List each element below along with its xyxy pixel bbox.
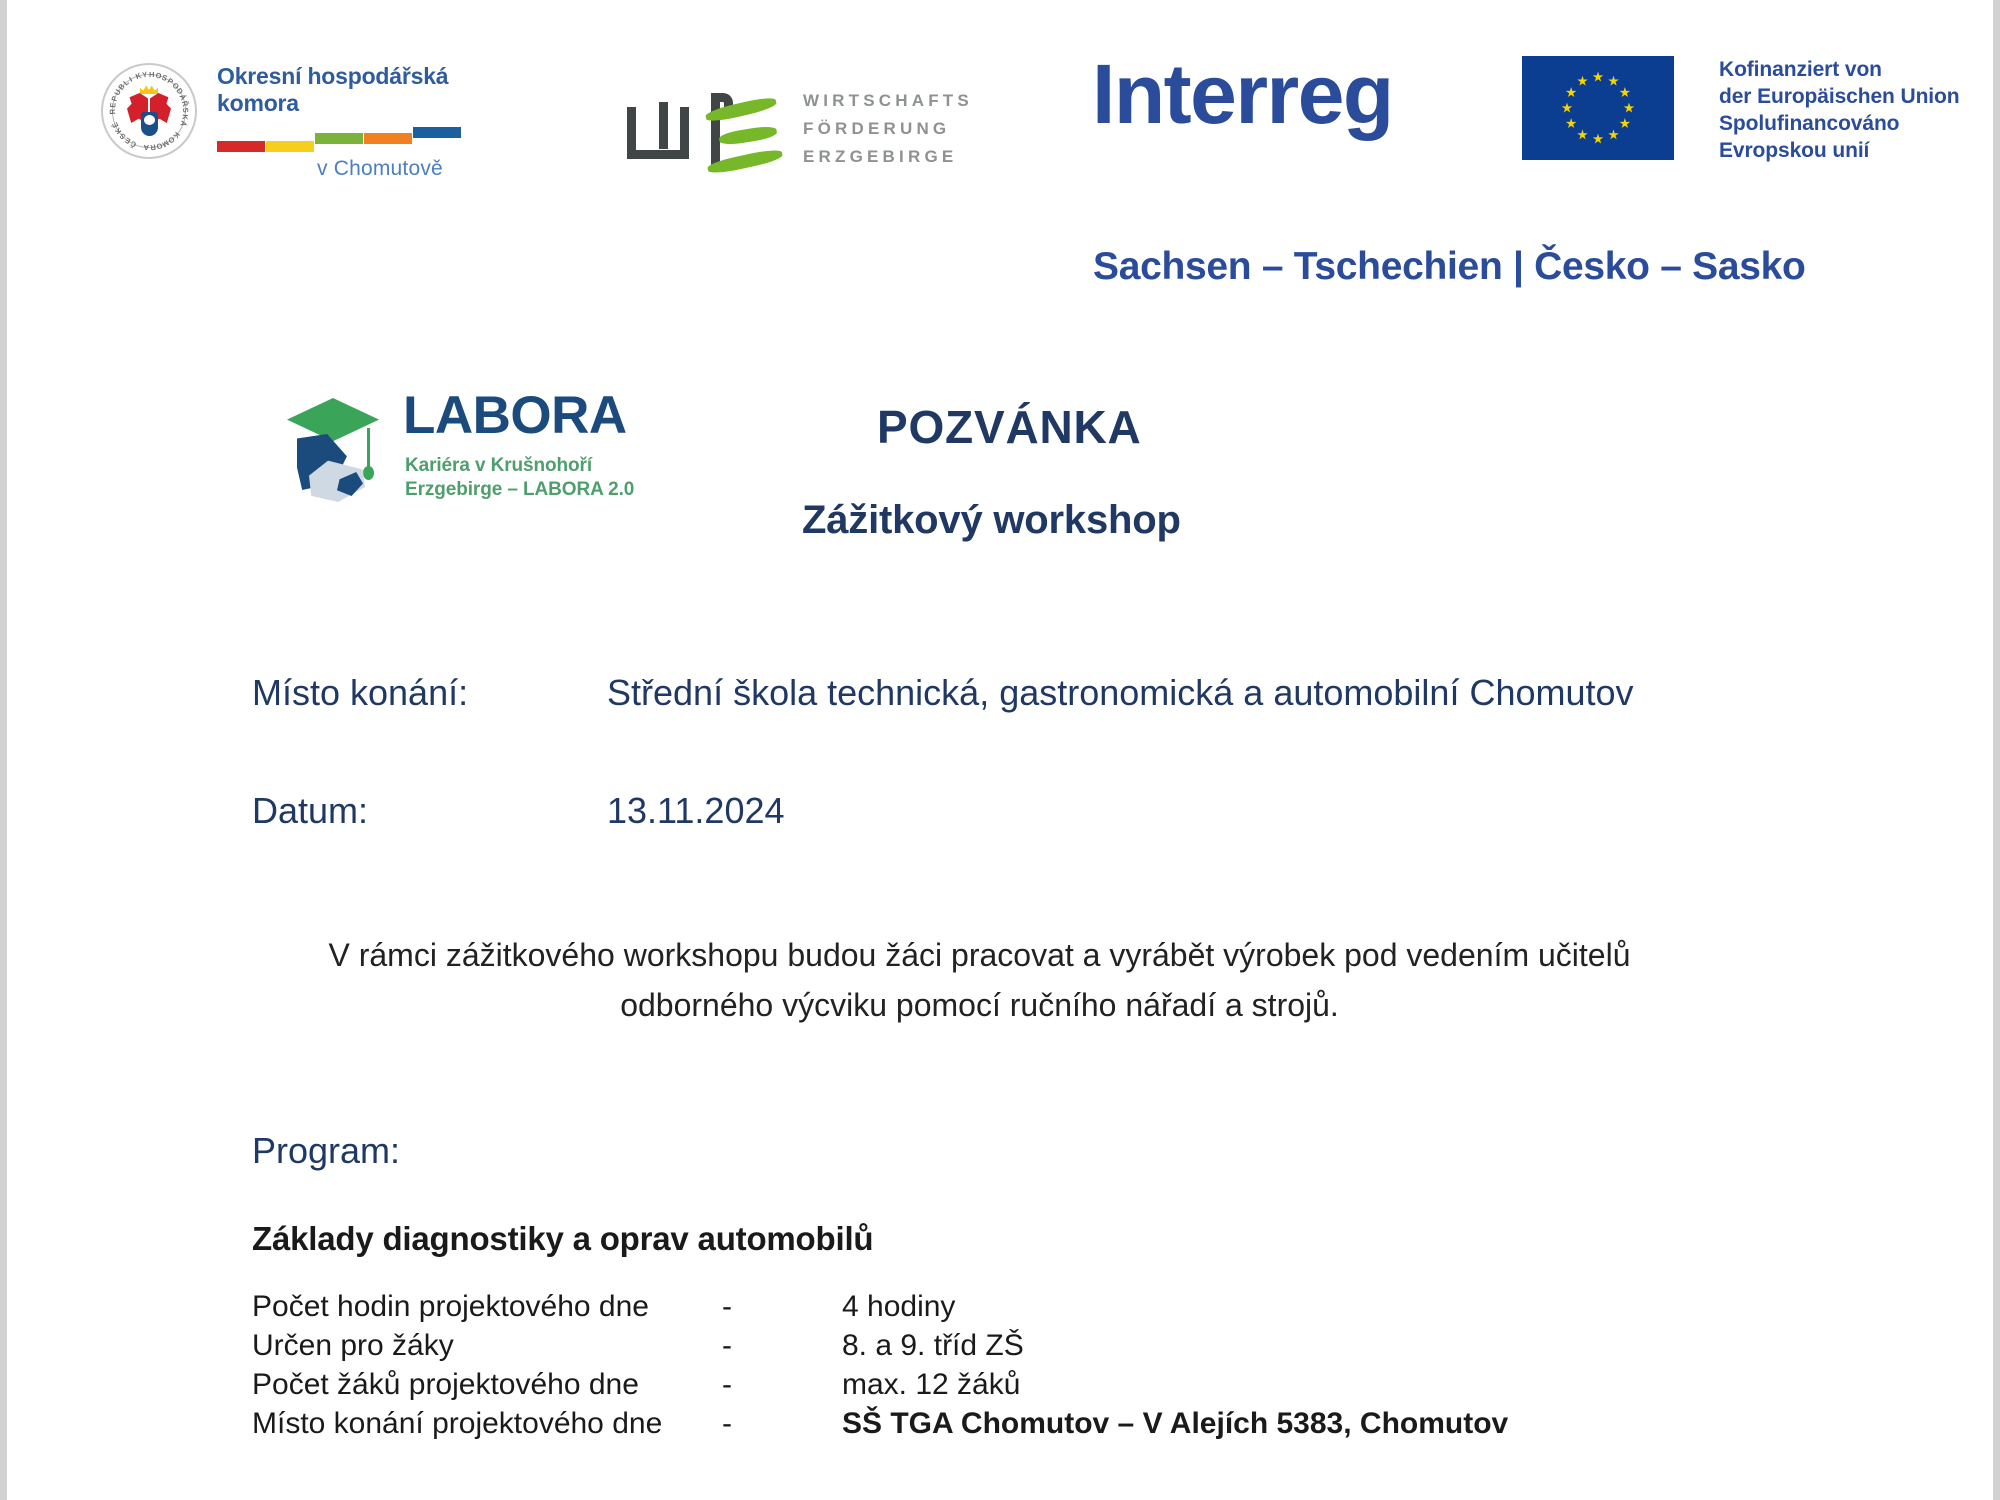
program-detail-dash: - — [722, 1329, 732, 1363]
program-detail-value: max. 12 žáků — [842, 1368, 1020, 1402]
eu-star-icon — [1624, 103, 1635, 114]
program-detail-dash: - — [722, 1290, 732, 1324]
description-paragraph: V rámci zážitkového workshopu budou žáci… — [252, 930, 1707, 1030]
eu-line-3: Spolufinancováno — [1719, 110, 1960, 137]
program-details-table: Počet hodin projektového dne-4 hodinyUrč… — [252, 1290, 1752, 1446]
ohk-color-bars — [217, 127, 487, 155]
funding-logo-strip: HOSPODÁŘSKÁ KOMORA ČESKÉ REPUBLIKY Okres… — [7, 0, 2000, 200]
program-label: Program: — [252, 1130, 400, 1172]
info-label-venue: Místo konání: — [252, 672, 468, 714]
eu-flag-icon — [1522, 56, 1674, 160]
graduation-cap-handshake-icon — [285, 388, 389, 513]
wfe-line-3: ERZGEBIRGE — [803, 143, 973, 171]
event-info-block: Místo konání: Střední škola technická, g… — [252, 672, 1952, 908]
wfe-line-2: FÖRDERUNG — [803, 115, 973, 143]
eu-star-icon — [1608, 76, 1619, 87]
program-detail-key: Počet hodin projektového dne — [252, 1290, 649, 1324]
eu-line-1: Kofinanziert von — [1719, 56, 1960, 83]
eu-star-icon — [1562, 103, 1573, 114]
ohk-line-2: komora — [217, 90, 497, 117]
wfe-wordmark: WIRTSCHAFTS FÖRDERUNG ERZGEBIRGE — [803, 87, 973, 171]
eu-star-icon — [1566, 87, 1577, 98]
eu-star-icon — [1566, 118, 1577, 129]
program-title: Základy diagnostiky a oprav automobilů — [252, 1220, 873, 1258]
eu-star-icon — [1608, 129, 1619, 140]
program-detail-key: Počet žáků projektového dne — [252, 1368, 639, 1402]
labora-subtitle-cz: Kariéra v Krušnohoří — [405, 454, 634, 478]
wf-monogram-icon — [627, 85, 772, 163]
program-detail-dash: - — [722, 1407, 732, 1441]
eu-star-icon — [1619, 87, 1630, 98]
info-value-date: 13.11.2024 — [607, 790, 785, 832]
ohk-city-label: v Chomutově — [317, 157, 443, 181]
eu-star-icon — [1593, 72, 1604, 83]
page-title: POZVÁNKA — [877, 400, 1142, 454]
eu-star-icon — [1619, 118, 1630, 129]
eu-funding-statement: Kofinanziert von der Europäischen Union … — [1719, 56, 1960, 164]
program-detail-value: SŠ TGA Chomutov – V Alejích 5383, Chomut… — [842, 1407, 1508, 1441]
eu-line-4: Evropskou unií — [1719, 137, 1960, 164]
program-detail-row: Místo konání projektového dne-SŠ TGA Cho… — [252, 1407, 1752, 1446]
document-page: HOSPODÁŘSKÁ KOMORA ČESKÉ REPUBLIKY Okres… — [0, 0, 2000, 1500]
program-detail-key: Místo konání projektového dne — [252, 1407, 662, 1441]
ohk-chomutov-logo: HOSPODÁŘSKÁ KOMORA ČESKÉ REPUBLIKY Okres… — [99, 55, 499, 175]
program-detail-row: Určen pro žáky-8. a 9. tříd ZŠ — [252, 1329, 1752, 1368]
page-subtitle: Zážitkový workshop — [802, 498, 1181, 543]
labora-wordmark: LABORA — [403, 388, 627, 444]
eu-star-icon — [1577, 129, 1588, 140]
eu-star-icon — [1593, 134, 1604, 145]
program-detail-value: 8. a 9. tříd ZŠ — [842, 1329, 1024, 1363]
labora-subtitle-de: Erzgebirge – LABORA 2.0 — [405, 478, 634, 502]
eu-star-icon — [1577, 76, 1588, 87]
info-label-date: Datum: — [252, 790, 368, 832]
info-value-venue: Střední škola technická, gastronomická a… — [607, 672, 1634, 714]
info-row: Datum: 13.11.2024 — [252, 790, 1952, 908]
info-row: Místo konání: Střední škola technická, g… — [252, 672, 1952, 790]
program-detail-value: 4 hodiny — [842, 1290, 955, 1324]
wfe-line-1: WIRTSCHAFTS — [803, 87, 973, 115]
ohk-line-1: Okresní hospodářská — [217, 63, 497, 90]
labora-logo: LABORA Kariéra v Krušnohoří Erzgebirge –… — [285, 388, 685, 513]
chamber-seal-icon: HOSPODÁŘSKÁ KOMORA ČESKÉ REPUBLIKY — [99, 61, 199, 161]
program-detail-row: Počet hodin projektového dne-4 hodiny — [252, 1290, 1752, 1329]
programme-subtitle: Sachsen – Tschechien | Česko – Sasko — [1093, 245, 1806, 289]
wirtschaftsfoerderung-erzgebirge-logo: WIRTSCHAFTS FÖRDERUNG ERZGEBIRGE — [627, 85, 1007, 180]
ohk-wordmark: Okresní hospodářská komora — [217, 63, 497, 117]
program-detail-dash: - — [722, 1368, 732, 1402]
labora-subtitle: Kariéra v Krušnohoří Erzgebirge – LABORA… — [405, 454, 634, 502]
eu-line-2: der Europäischen Union — [1719, 83, 1960, 110]
program-detail-row: Počet žáků projektového dne-max. 12 žáků — [252, 1368, 1752, 1407]
interreg-logo: Interreg — [1092, 52, 1393, 136]
coat-of-arms-icon — [125, 85, 173, 141]
program-detail-key: Určen pro žáky — [252, 1329, 454, 1363]
